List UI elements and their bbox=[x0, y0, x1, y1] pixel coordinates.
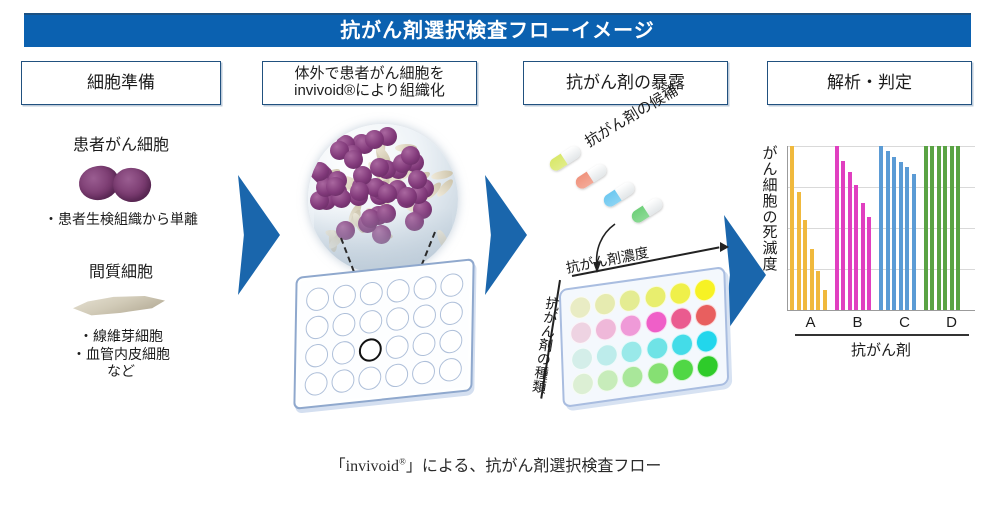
flow-arrow-right-icon-2 bbox=[485, 175, 527, 295]
colored-well bbox=[646, 335, 669, 360]
bar bbox=[956, 146, 960, 310]
bar bbox=[905, 167, 909, 310]
colored-well bbox=[672, 358, 695, 383]
x-tick-C: C bbox=[881, 314, 928, 331]
title-bar: 抗がん剤選択検査フローイメージ bbox=[24, 13, 971, 47]
drug-type-axis-label: 抗がん剤の種類 bbox=[528, 295, 563, 395]
bar bbox=[924, 146, 928, 310]
step-header-2-label: 体外で患者がん細胞を invivoid®により組織化 bbox=[294, 66, 445, 100]
well-plate-24 bbox=[294, 268, 474, 400]
chart-plot-area bbox=[787, 146, 975, 311]
bar bbox=[841, 161, 845, 310]
cancer-cell-heading: 患者がん細胞 bbox=[21, 136, 221, 155]
bar bbox=[899, 162, 903, 310]
panel-drug-exposure: 抗がん剤の候補 抗がん剤濃度 抗がん剤の種類 bbox=[530, 118, 735, 423]
well bbox=[359, 337, 382, 363]
well bbox=[440, 272, 463, 298]
flow-arrow-right-icon-1 bbox=[238, 175, 280, 295]
organoid-sphere-icon bbox=[308, 124, 458, 274]
colored-well-plate bbox=[560, 278, 728, 396]
panel-analysis-chart: がん細胞の死滅度 ABCD 抗がん剤 bbox=[755, 118, 985, 423]
colored-well bbox=[620, 313, 643, 338]
colored-well bbox=[571, 372, 594, 397]
well bbox=[439, 328, 462, 354]
well bbox=[439, 356, 462, 382]
chart-bars bbox=[788, 146, 975, 310]
x-tick-D: D bbox=[928, 314, 975, 331]
step-header-2: 体外で患者がん細胞を invivoid®により組織化 bbox=[262, 61, 477, 105]
step-header-1: 細胞準備 bbox=[21, 61, 221, 105]
colored-well bbox=[645, 310, 668, 335]
cancer-cell-block: 患者がん細胞 ・患者生検組織から単離 bbox=[21, 136, 221, 229]
well bbox=[331, 368, 354, 394]
stromal-cell-icon bbox=[21, 289, 221, 323]
bar bbox=[930, 146, 934, 310]
colored-well bbox=[594, 291, 617, 316]
bar bbox=[854, 185, 858, 310]
capsule-pill-icon-4 bbox=[629, 196, 665, 225]
colored-well bbox=[569, 295, 592, 320]
x-tick-A: A bbox=[787, 314, 834, 331]
well bbox=[360, 280, 383, 306]
bar-group-A bbox=[790, 146, 827, 310]
bar bbox=[943, 146, 947, 310]
bar bbox=[886, 151, 890, 310]
bar bbox=[867, 217, 871, 310]
well bbox=[386, 306, 409, 332]
well bbox=[332, 311, 355, 337]
well bbox=[413, 303, 436, 329]
step-header-4-label: 解析・判定 bbox=[827, 73, 912, 92]
bar bbox=[861, 203, 865, 310]
colored-well bbox=[621, 339, 644, 364]
bar bbox=[797, 192, 801, 310]
bar bbox=[810, 249, 814, 310]
well bbox=[412, 331, 435, 357]
colored-well bbox=[596, 343, 619, 368]
capsule-pill-icon-1 bbox=[547, 144, 583, 173]
colored-well bbox=[570, 346, 593, 371]
bar bbox=[950, 146, 954, 310]
chart-x-axis-label: 抗がん剤 bbox=[787, 339, 975, 360]
well bbox=[387, 277, 410, 303]
bar bbox=[937, 146, 941, 310]
well bbox=[386, 334, 409, 360]
colored-well bbox=[671, 332, 694, 357]
well bbox=[413, 275, 436, 301]
bar bbox=[912, 174, 916, 310]
stromal-cell-bullets: ・線維芽細胞 ・血管内皮細胞 など bbox=[21, 328, 221, 381]
cancer-cell-icon bbox=[21, 163, 221, 205]
page-title: 抗がん剤選択検査フローイメージ bbox=[340, 21, 655, 41]
cancer-cell-bullets: ・患者生検組織から単離 bbox=[21, 211, 221, 229]
concentration-axis-arrowhead bbox=[720, 242, 729, 252]
x-tick-B: B bbox=[834, 314, 881, 331]
well bbox=[385, 362, 408, 388]
colored-well bbox=[570, 320, 593, 345]
step-header-4: 解析・判定 bbox=[767, 61, 972, 105]
caption-pre: 「invivoid bbox=[330, 458, 399, 475]
capsule-pill-icon-3 bbox=[601, 180, 637, 209]
well bbox=[358, 365, 381, 391]
bar-group-C bbox=[879, 146, 916, 310]
colored-well bbox=[622, 365, 645, 390]
colored-well bbox=[695, 303, 718, 328]
chart-y-axis-label: がん細胞の死滅度 bbox=[759, 146, 781, 273]
colored-well bbox=[694, 277, 717, 302]
bar-group-D bbox=[924, 146, 961, 310]
well bbox=[440, 300, 463, 326]
stromal-cell-block: 間質細胞 ・線維芽細胞 ・血管内皮細胞 など bbox=[21, 263, 221, 381]
figure-caption: 「invivoid®」による、抗がん剤選択検査フロー bbox=[0, 452, 991, 476]
bar bbox=[835, 146, 839, 310]
well bbox=[412, 359, 435, 385]
well bbox=[305, 342, 328, 368]
bar bbox=[823, 290, 827, 310]
well bbox=[304, 371, 327, 397]
colored-well bbox=[596, 368, 619, 393]
well bbox=[332, 340, 355, 366]
colored-well bbox=[644, 284, 667, 309]
bar bbox=[790, 146, 794, 310]
colored-well bbox=[696, 328, 719, 353]
colored-well bbox=[697, 354, 720, 379]
well bbox=[305, 314, 328, 340]
colored-well bbox=[647, 361, 670, 386]
bar bbox=[803, 220, 807, 310]
well bbox=[333, 283, 356, 309]
capsule-pill-icon-2 bbox=[573, 162, 609, 191]
bar bbox=[892, 157, 896, 310]
caption-registered-mark: ® bbox=[399, 457, 406, 467]
bar bbox=[816, 271, 820, 310]
caption-post: 」による、抗がん剤選択検査フロー bbox=[406, 458, 662, 475]
colored-well bbox=[619, 288, 642, 313]
step-header-1-label: 細胞準備 bbox=[87, 73, 155, 92]
chart-x-tick-labels: ABCD bbox=[787, 314, 975, 331]
well bbox=[359, 309, 382, 335]
bar bbox=[879, 146, 883, 310]
colored-well bbox=[669, 281, 692, 306]
bar bbox=[848, 172, 852, 310]
bar-group-B bbox=[835, 146, 872, 310]
stromal-cell-heading: 間質細胞 bbox=[21, 263, 221, 282]
panel-organoid-formation bbox=[288, 118, 478, 423]
well bbox=[306, 286, 329, 312]
colored-well bbox=[670, 306, 693, 331]
step-header-3: 抗がん剤の暴露 bbox=[523, 61, 728, 105]
colored-well bbox=[595, 317, 618, 342]
chart-x-axis-rule bbox=[795, 334, 969, 336]
panel-cell-preparation: 患者がん細胞 ・患者生検組織から単離 間質細胞 ・線維芽細胞 ・血管内皮細胞 な… bbox=[21, 118, 221, 423]
